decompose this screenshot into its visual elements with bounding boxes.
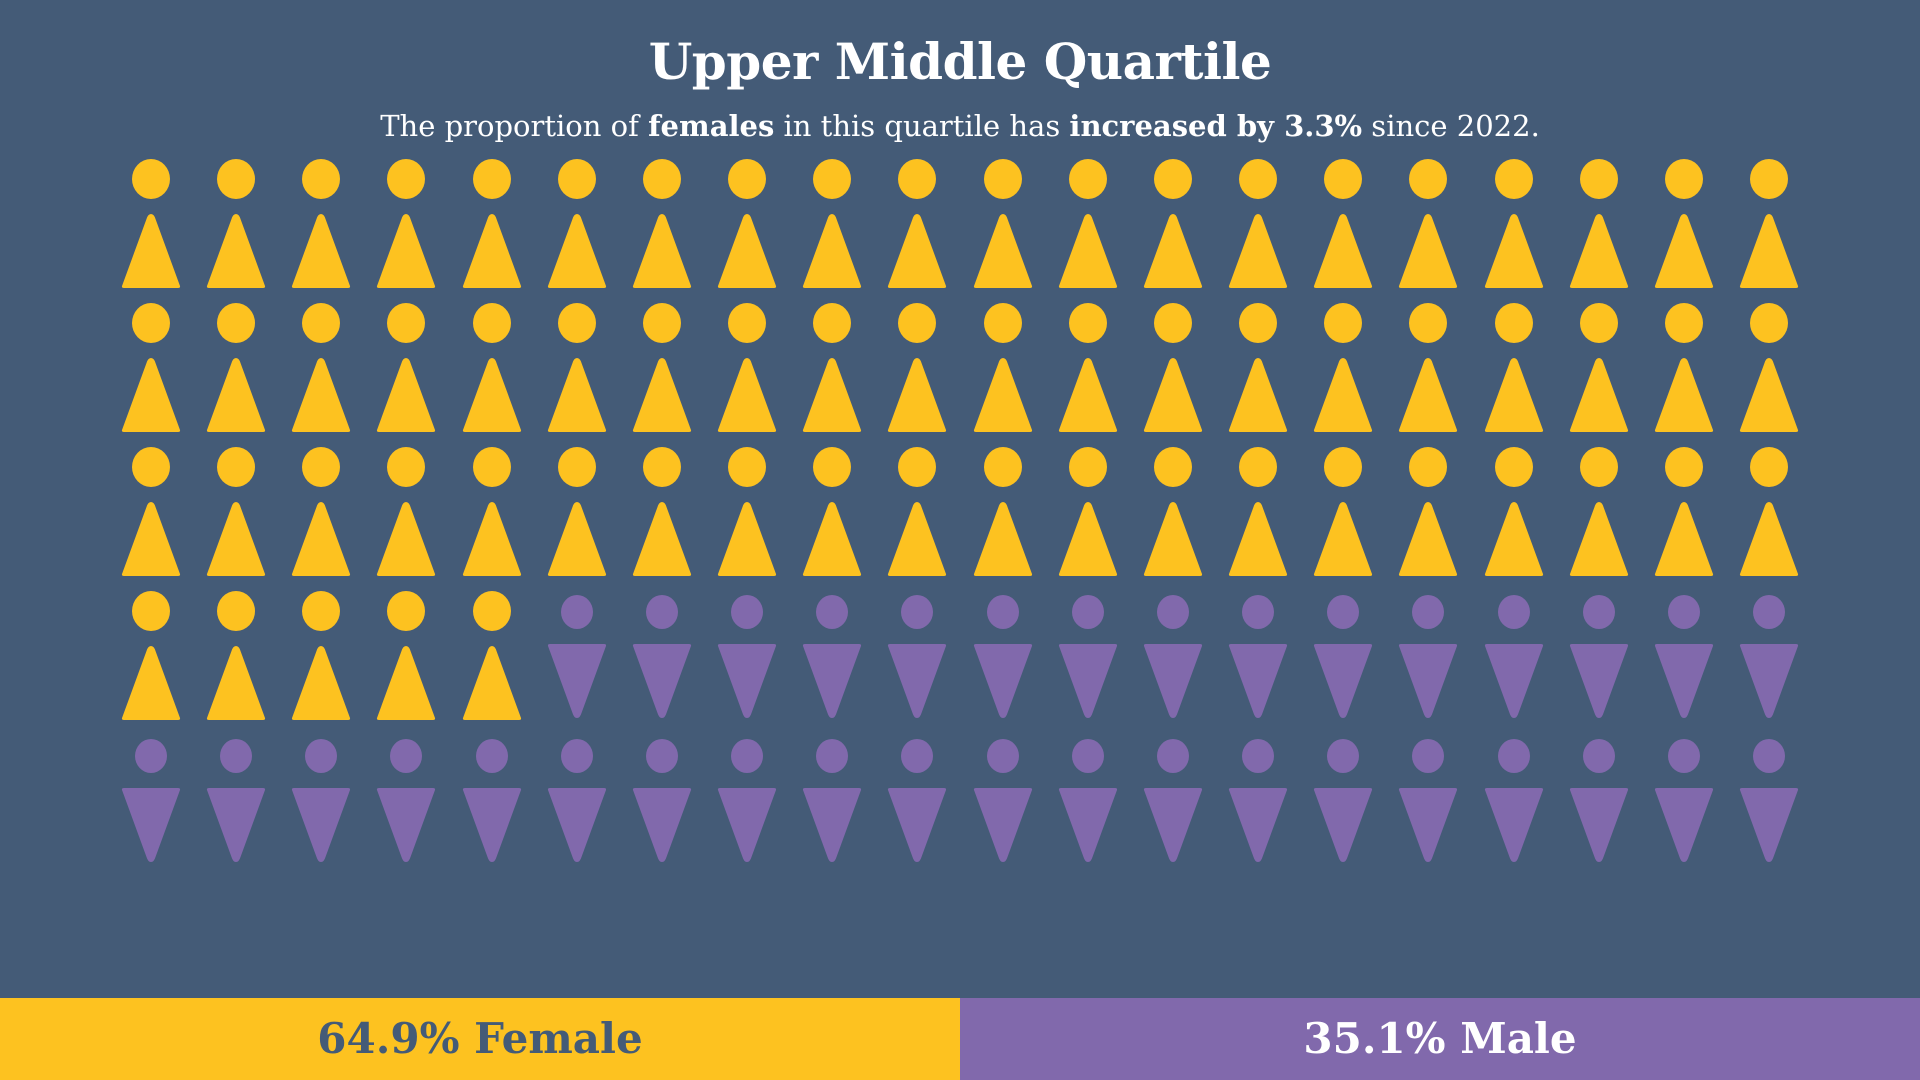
male-body bbox=[548, 644, 606, 718]
male-icon bbox=[1483, 734, 1545, 866]
female-head bbox=[1239, 447, 1277, 487]
female-head bbox=[132, 303, 170, 343]
male-icon bbox=[120, 734, 182, 866]
female-body bbox=[1740, 358, 1798, 432]
male-icon bbox=[1568, 734, 1630, 866]
female-icon bbox=[1312, 446, 1374, 578]
male-icon bbox=[716, 590, 778, 722]
female-head bbox=[473, 303, 511, 343]
female-icon bbox=[801, 158, 863, 290]
female-head bbox=[387, 447, 425, 487]
female-head bbox=[643, 447, 681, 487]
female-icon bbox=[972, 302, 1034, 434]
male-body bbox=[1399, 788, 1457, 862]
female-icon bbox=[205, 302, 267, 434]
male-icon bbox=[290, 734, 352, 866]
male-head bbox=[390, 739, 422, 773]
female-body bbox=[1484, 358, 1542, 432]
male-body bbox=[1655, 644, 1713, 718]
female-head bbox=[473, 447, 511, 487]
male-icon bbox=[1142, 590, 1204, 722]
female-body bbox=[973, 502, 1031, 576]
female-icon bbox=[461, 158, 523, 290]
male-body bbox=[718, 788, 776, 862]
female-body bbox=[1655, 214, 1713, 288]
female-icon bbox=[1653, 158, 1715, 290]
female-body bbox=[1484, 502, 1542, 576]
male-icon bbox=[972, 734, 1034, 866]
female-icon bbox=[1738, 158, 1800, 290]
male-body bbox=[1484, 644, 1542, 718]
female-head bbox=[1495, 303, 1533, 343]
female-body bbox=[122, 214, 180, 288]
female-body bbox=[633, 358, 691, 432]
female-icon bbox=[120, 302, 182, 434]
male-body bbox=[1229, 644, 1287, 718]
female-body bbox=[718, 358, 776, 432]
female-body bbox=[1399, 214, 1457, 288]
female-body bbox=[292, 646, 350, 720]
female-icon bbox=[1227, 302, 1289, 434]
female-head bbox=[1069, 447, 1107, 487]
male-icon bbox=[801, 734, 863, 866]
male-icon bbox=[631, 590, 693, 722]
female-body bbox=[207, 358, 265, 432]
female-head bbox=[558, 447, 596, 487]
male-icon bbox=[1568, 590, 1630, 722]
female-icon bbox=[1568, 158, 1630, 290]
female-head bbox=[1580, 159, 1618, 199]
female-body bbox=[1399, 502, 1457, 576]
male-body bbox=[888, 644, 946, 718]
male-body bbox=[463, 788, 521, 862]
female-icon bbox=[1568, 446, 1630, 578]
female-body bbox=[292, 358, 350, 432]
female-body bbox=[1229, 502, 1287, 576]
female-head bbox=[1154, 447, 1192, 487]
male-head bbox=[1157, 739, 1189, 773]
female-body bbox=[1229, 358, 1287, 432]
pictogram-row bbox=[120, 446, 1800, 590]
male-icon bbox=[1057, 734, 1119, 866]
female-head bbox=[302, 159, 340, 199]
female-head bbox=[217, 447, 255, 487]
male-body bbox=[1484, 788, 1542, 862]
male-head bbox=[987, 595, 1019, 629]
female-body bbox=[1570, 214, 1628, 288]
male-head bbox=[1753, 739, 1785, 773]
male-head bbox=[1157, 595, 1189, 629]
female-icon bbox=[1653, 446, 1715, 578]
male-body bbox=[1740, 788, 1798, 862]
female-icon bbox=[972, 446, 1034, 578]
male-head bbox=[476, 739, 508, 773]
male-body bbox=[1059, 788, 1117, 862]
female-head bbox=[1750, 159, 1788, 199]
female-head bbox=[302, 591, 340, 631]
female-body bbox=[1314, 358, 1372, 432]
male-icon bbox=[546, 590, 608, 722]
female-icon bbox=[461, 446, 523, 578]
female-head bbox=[1069, 159, 1107, 199]
female-icon bbox=[631, 158, 693, 290]
male-icon bbox=[886, 590, 948, 722]
male-head bbox=[1753, 595, 1785, 629]
male-head bbox=[305, 739, 337, 773]
female-icon bbox=[1057, 158, 1119, 290]
male-icon bbox=[972, 590, 1034, 722]
female-body bbox=[803, 214, 861, 288]
male-icon bbox=[1312, 734, 1374, 866]
male-body bbox=[888, 788, 946, 862]
male-head bbox=[135, 739, 167, 773]
female-head bbox=[1324, 303, 1362, 343]
female-body bbox=[1059, 358, 1117, 432]
male-body bbox=[1314, 644, 1372, 718]
male-icon bbox=[1397, 734, 1459, 866]
female-icon bbox=[1397, 302, 1459, 434]
female-body bbox=[548, 502, 606, 576]
female-head bbox=[1665, 447, 1703, 487]
subtitle-emphasis-increase: increased by 3.3% bbox=[1069, 109, 1362, 143]
male-head bbox=[816, 595, 848, 629]
male-head bbox=[987, 739, 1019, 773]
male-body bbox=[548, 788, 606, 862]
female-body bbox=[377, 358, 435, 432]
female-body bbox=[292, 502, 350, 576]
female-body bbox=[463, 502, 521, 576]
female-body bbox=[1655, 358, 1713, 432]
female-icon bbox=[120, 590, 182, 722]
female-head bbox=[898, 447, 936, 487]
female-body bbox=[292, 214, 350, 288]
female-icon bbox=[290, 590, 352, 722]
male-head bbox=[1242, 595, 1274, 629]
male-head bbox=[1498, 739, 1530, 773]
female-body bbox=[803, 358, 861, 432]
female-head bbox=[1324, 447, 1362, 487]
male-icon bbox=[716, 734, 778, 866]
male-head bbox=[646, 595, 678, 629]
female-icon bbox=[205, 446, 267, 578]
female-body bbox=[122, 358, 180, 432]
female-body bbox=[1570, 502, 1628, 576]
male-body bbox=[1570, 788, 1628, 862]
female-icon bbox=[375, 158, 437, 290]
female-head bbox=[132, 447, 170, 487]
male-head bbox=[1412, 739, 1444, 773]
male-body bbox=[122, 788, 180, 862]
female-body bbox=[1059, 214, 1117, 288]
male-head bbox=[1583, 739, 1615, 773]
female-body bbox=[463, 358, 521, 432]
female-body bbox=[207, 502, 265, 576]
female-body bbox=[207, 646, 265, 720]
female-head bbox=[728, 447, 766, 487]
male-head bbox=[220, 739, 252, 773]
male-head bbox=[1242, 739, 1274, 773]
female-body bbox=[1229, 214, 1287, 288]
female-icon bbox=[290, 446, 352, 578]
male-icon bbox=[546, 734, 608, 866]
male-head bbox=[731, 739, 763, 773]
female-icon bbox=[631, 302, 693, 434]
female-icon bbox=[1483, 302, 1545, 434]
female-head bbox=[1409, 159, 1447, 199]
male-body bbox=[1314, 788, 1372, 862]
female-body bbox=[888, 214, 946, 288]
female-icon bbox=[716, 158, 778, 290]
female-body bbox=[973, 214, 1031, 288]
female-icon bbox=[461, 302, 523, 434]
female-icon bbox=[886, 302, 948, 434]
female-head bbox=[643, 159, 681, 199]
female-body bbox=[718, 502, 776, 576]
female-icon bbox=[205, 158, 267, 290]
female-body bbox=[1314, 502, 1372, 576]
female-body bbox=[463, 214, 521, 288]
female-head bbox=[1580, 303, 1618, 343]
subtitle-part1: The proportion of bbox=[380, 109, 648, 143]
male-head bbox=[1327, 595, 1359, 629]
female-head bbox=[898, 159, 936, 199]
female-icon bbox=[1057, 302, 1119, 434]
female-icon bbox=[1057, 446, 1119, 578]
male-body bbox=[1399, 644, 1457, 718]
female-body bbox=[377, 502, 435, 576]
female-head bbox=[984, 159, 1022, 199]
female-head bbox=[1665, 159, 1703, 199]
male-body bbox=[1144, 644, 1202, 718]
female-head bbox=[728, 303, 766, 343]
male-body bbox=[1740, 644, 1798, 718]
female-head bbox=[813, 159, 851, 199]
female-head bbox=[302, 303, 340, 343]
legend-female-label: 64.9% Female bbox=[317, 1018, 642, 1060]
pictogram-area bbox=[0, 144, 1920, 998]
female-icon bbox=[1312, 302, 1374, 434]
female-icon bbox=[716, 302, 778, 434]
female-head bbox=[558, 159, 596, 199]
male-icon bbox=[1483, 590, 1545, 722]
female-icon bbox=[1227, 158, 1289, 290]
female-head bbox=[473, 591, 511, 631]
pictogram-row bbox=[120, 158, 1800, 302]
male-head bbox=[1583, 595, 1615, 629]
female-icon bbox=[886, 446, 948, 578]
female-icon bbox=[461, 590, 523, 722]
female-body bbox=[1570, 358, 1628, 432]
female-head bbox=[217, 591, 255, 631]
female-head bbox=[302, 447, 340, 487]
male-icon bbox=[801, 590, 863, 722]
male-icon bbox=[1397, 590, 1459, 722]
female-icon bbox=[120, 158, 182, 290]
female-head bbox=[1154, 303, 1192, 343]
male-body bbox=[292, 788, 350, 862]
page-title: Upper Middle Quartile bbox=[0, 34, 1920, 89]
male-head bbox=[561, 739, 593, 773]
female-icon bbox=[375, 302, 437, 434]
legend-female-segment: 64.9% Female bbox=[0, 998, 960, 1080]
male-icon bbox=[1312, 590, 1374, 722]
male-head bbox=[1498, 595, 1530, 629]
female-head bbox=[387, 591, 425, 631]
male-body bbox=[803, 788, 861, 862]
female-icon bbox=[1142, 446, 1204, 578]
female-head bbox=[132, 591, 170, 631]
male-head bbox=[1327, 739, 1359, 773]
female-icon bbox=[1738, 446, 1800, 578]
male-icon bbox=[461, 734, 523, 866]
male-icon bbox=[205, 734, 267, 866]
male-icon bbox=[1057, 590, 1119, 722]
male-body bbox=[1229, 788, 1287, 862]
male-head bbox=[1668, 739, 1700, 773]
female-body bbox=[803, 502, 861, 576]
male-body bbox=[973, 788, 1031, 862]
female-body bbox=[1740, 214, 1798, 288]
male-body bbox=[207, 788, 265, 862]
female-head bbox=[1154, 159, 1192, 199]
female-icon bbox=[1142, 158, 1204, 290]
female-icon bbox=[631, 446, 693, 578]
male-icon bbox=[1738, 590, 1800, 722]
female-icon bbox=[716, 446, 778, 578]
male-head bbox=[1412, 595, 1444, 629]
female-body bbox=[1740, 502, 1798, 576]
male-body bbox=[1144, 788, 1202, 862]
female-icon bbox=[886, 158, 948, 290]
female-icon bbox=[120, 446, 182, 578]
female-icon bbox=[375, 446, 437, 578]
male-icon bbox=[631, 734, 693, 866]
female-head bbox=[1665, 303, 1703, 343]
female-icon bbox=[1142, 302, 1204, 434]
pictogram-row bbox=[120, 590, 1800, 734]
male-head bbox=[1072, 739, 1104, 773]
female-head bbox=[1409, 303, 1447, 343]
female-icon bbox=[1397, 158, 1459, 290]
female-body bbox=[377, 214, 435, 288]
female-body bbox=[122, 646, 180, 720]
female-icon bbox=[1568, 302, 1630, 434]
female-icon bbox=[801, 446, 863, 578]
female-icon bbox=[972, 158, 1034, 290]
female-head bbox=[813, 447, 851, 487]
female-body bbox=[1144, 214, 1202, 288]
female-head bbox=[473, 159, 511, 199]
female-body bbox=[548, 358, 606, 432]
female-body bbox=[633, 502, 691, 576]
female-icon bbox=[1738, 302, 1800, 434]
pictogram-grid bbox=[120, 158, 1800, 878]
female-body bbox=[1059, 502, 1117, 576]
female-head bbox=[217, 159, 255, 199]
female-head bbox=[1580, 447, 1618, 487]
female-icon bbox=[546, 302, 608, 434]
female-icon bbox=[546, 446, 608, 578]
male-head bbox=[561, 595, 593, 629]
male-body bbox=[1059, 644, 1117, 718]
pictogram-row bbox=[120, 302, 1800, 446]
female-body bbox=[377, 646, 435, 720]
female-head bbox=[387, 159, 425, 199]
legend-male-label: 35.1% Male bbox=[1303, 1018, 1576, 1060]
male-icon bbox=[886, 734, 948, 866]
female-body bbox=[633, 214, 691, 288]
female-head bbox=[643, 303, 681, 343]
female-icon bbox=[801, 302, 863, 434]
female-icon bbox=[546, 158, 608, 290]
male-head bbox=[731, 595, 763, 629]
female-body bbox=[463, 646, 521, 720]
male-body bbox=[718, 644, 776, 718]
male-body bbox=[377, 788, 435, 862]
female-head bbox=[1495, 447, 1533, 487]
subtitle: The proportion of females in this quarti… bbox=[0, 109, 1920, 144]
female-body bbox=[1655, 502, 1713, 576]
female-head bbox=[984, 303, 1022, 343]
female-icon bbox=[290, 158, 352, 290]
female-head bbox=[1239, 303, 1277, 343]
female-head bbox=[1750, 447, 1788, 487]
female-body bbox=[888, 358, 946, 432]
male-icon bbox=[1227, 590, 1289, 722]
female-icon bbox=[205, 590, 267, 722]
male-body bbox=[633, 788, 691, 862]
female-head bbox=[217, 303, 255, 343]
male-body bbox=[1570, 644, 1628, 718]
female-head bbox=[1324, 159, 1362, 199]
male-icon bbox=[1142, 734, 1204, 866]
female-head bbox=[1069, 303, 1107, 343]
female-head bbox=[898, 303, 936, 343]
female-body bbox=[207, 214, 265, 288]
female-body bbox=[1144, 502, 1202, 576]
female-head bbox=[1750, 303, 1788, 343]
subtitle-emphasis-females: females bbox=[648, 109, 774, 143]
subtitle-part2: in this quartile has bbox=[774, 109, 1069, 143]
female-icon bbox=[1227, 446, 1289, 578]
header: Upper Middle Quartile The proportion of … bbox=[0, 0, 1920, 144]
female-body bbox=[122, 502, 180, 576]
pictogram-row bbox=[120, 734, 1800, 878]
male-icon bbox=[1738, 734, 1800, 866]
infographic-root: Upper Middle Quartile The proportion of … bbox=[0, 0, 1920, 1080]
female-icon bbox=[290, 302, 352, 434]
female-head bbox=[387, 303, 425, 343]
male-icon bbox=[1653, 734, 1715, 866]
female-head bbox=[1409, 447, 1447, 487]
female-head bbox=[728, 159, 766, 199]
male-head bbox=[901, 739, 933, 773]
female-body bbox=[973, 358, 1031, 432]
female-head bbox=[1239, 159, 1277, 199]
male-icon bbox=[375, 734, 437, 866]
male-body bbox=[633, 644, 691, 718]
female-icon bbox=[375, 590, 437, 722]
female-icon bbox=[1483, 446, 1545, 578]
legend-bar: 64.9% Female 35.1% Male bbox=[0, 998, 1920, 1080]
male-head bbox=[1072, 595, 1104, 629]
female-head bbox=[984, 447, 1022, 487]
female-body bbox=[888, 502, 946, 576]
female-body bbox=[1484, 214, 1542, 288]
female-icon bbox=[1397, 446, 1459, 578]
male-icon bbox=[1227, 734, 1289, 866]
female-icon bbox=[1653, 302, 1715, 434]
